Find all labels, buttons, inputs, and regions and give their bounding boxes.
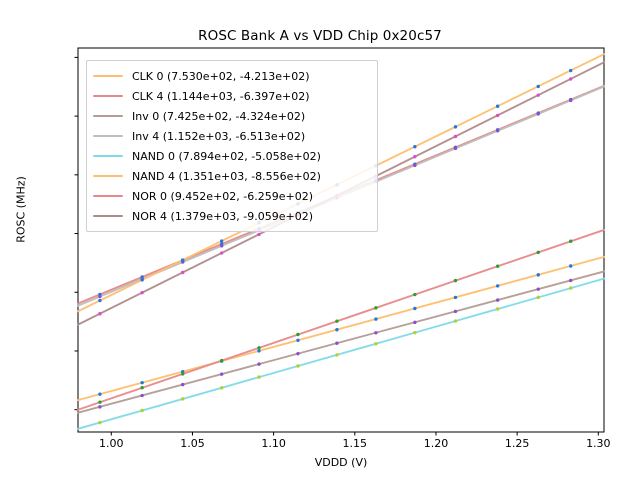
data-point <box>569 264 572 267</box>
data-point <box>181 271 184 274</box>
fit-line <box>78 279 604 429</box>
legend-label: Inv 0 (7.425e+02, -4.324e+02) <box>132 110 305 123</box>
data-point <box>335 319 338 322</box>
data-point <box>98 392 101 395</box>
legend-label: NOR 0 (9.452e+02, -6.259e+02) <box>132 190 313 203</box>
data-point <box>181 383 184 386</box>
legend-item-nor-0[interactable]: NOR 0 (9.452e+02, -6.259e+02) <box>93 186 370 206</box>
data-point <box>98 299 101 302</box>
legend-item-clk-0[interactable]: CLK 0 (7.530e+02, -4.213e+02) <box>93 66 370 86</box>
data-point <box>140 381 143 384</box>
legend-label: CLK 4 (1.144e+03, -6.397e+02) <box>132 90 310 103</box>
fit-line <box>78 230 604 410</box>
legend-item-inv-0[interactable]: Inv 0 (7.425e+02, -4.324e+02) <box>93 106 370 126</box>
data-point <box>98 421 101 424</box>
legend-item-nor-4[interactable]: NOR 4 (1.379e+03, -9.059e+02) <box>93 206 370 226</box>
data-point <box>569 69 572 72</box>
legend-swatch-icon <box>93 135 123 137</box>
data-point <box>374 306 377 309</box>
data-point <box>257 349 260 352</box>
data-point <box>335 328 338 331</box>
data-point <box>454 310 457 313</box>
legend-item-clk-4[interactable]: CLK 4 (1.144e+03, -6.397e+02) <box>93 86 370 106</box>
data-point <box>257 233 260 236</box>
data-point <box>413 331 416 334</box>
data-point <box>98 295 101 298</box>
legend-swatch-icon <box>93 195 123 197</box>
data-point <box>496 307 499 310</box>
data-point <box>220 239 223 242</box>
legend-swatch-icon <box>93 175 123 177</box>
data-point <box>181 372 184 375</box>
data-point <box>537 296 540 299</box>
data-point <box>220 251 223 254</box>
data-point <box>98 400 101 403</box>
data-point <box>454 279 457 282</box>
legend-swatch-icon <box>93 155 123 157</box>
legend-swatch-icon <box>93 115 123 117</box>
chart-figure: ROSC Bank A vs VDD Chip 0x20c57 ROSC (MH… <box>0 0 640 480</box>
data-point <box>537 85 540 88</box>
data-point <box>496 284 499 287</box>
data-point <box>413 293 416 296</box>
data-point <box>454 147 457 150</box>
data-point <box>181 258 184 261</box>
data-point <box>496 129 499 132</box>
data-point <box>374 342 377 345</box>
legend-item-nand-0[interactable]: NAND 0 (7.894e+02, -5.058e+02) <box>93 146 370 166</box>
data-point <box>220 359 223 362</box>
legend-label: Inv 4 (1.152e+03, -6.513e+02) <box>132 130 305 143</box>
data-point <box>374 331 377 334</box>
data-point <box>496 105 499 108</box>
legend-swatch-icon <box>93 95 123 97</box>
data-point <box>257 362 260 365</box>
data-point <box>140 291 143 294</box>
data-point <box>569 240 572 243</box>
data-point <box>98 312 101 315</box>
data-point <box>569 286 572 289</box>
legend-item-nand-4[interactable]: NAND 4 (1.351e+03, -8.556e+02) <box>93 166 370 186</box>
data-point <box>220 244 223 247</box>
legend-item-inv-4[interactable]: Inv 4 (1.152e+03, -6.513e+02) <box>93 126 370 146</box>
data-point <box>454 296 457 299</box>
data-point <box>413 164 416 167</box>
data-point <box>140 386 143 389</box>
data-point <box>569 279 572 282</box>
data-point <box>257 346 260 349</box>
data-point <box>537 93 540 96</box>
data-point <box>220 372 223 375</box>
data-point <box>296 364 299 367</box>
data-point <box>537 273 540 276</box>
data-point <box>257 375 260 378</box>
data-point <box>454 319 457 322</box>
legend-label: CLK 0 (7.530e+02, -4.213e+02) <box>132 70 310 83</box>
data-point <box>181 397 184 400</box>
legend-label: NAND 0 (7.894e+02, -5.058e+02) <box>132 150 321 163</box>
fit-line <box>78 271 604 412</box>
data-point <box>413 307 416 310</box>
legend-label: NAND 4 (1.351e+03, -8.556e+02) <box>132 170 321 183</box>
data-point <box>496 298 499 301</box>
data-point <box>537 251 540 254</box>
data-point <box>569 77 572 80</box>
data-point <box>454 135 457 138</box>
fit-line <box>78 257 604 400</box>
data-point <box>496 265 499 268</box>
data-point <box>335 342 338 345</box>
data-point <box>296 339 299 342</box>
chart-legend[interactable]: CLK 0 (7.530e+02, -4.213e+02)CLK 4 (1.14… <box>86 60 378 232</box>
data-point <box>335 353 338 356</box>
data-point <box>454 125 457 128</box>
data-point <box>537 112 540 115</box>
data-point <box>140 394 143 397</box>
data-point <box>296 333 299 336</box>
data-point <box>140 409 143 412</box>
data-point <box>413 321 416 324</box>
data-point <box>220 386 223 389</box>
legend-label: NOR 4 (1.379e+03, -9.059e+02) <box>132 210 313 223</box>
data-point <box>537 287 540 290</box>
data-point <box>296 352 299 355</box>
data-point <box>98 405 101 408</box>
legend-swatch-icon <box>93 75 123 77</box>
legend-swatch-icon <box>93 215 123 217</box>
data-point <box>413 155 416 158</box>
data-point <box>413 145 416 148</box>
data-point <box>569 99 572 102</box>
data-point <box>140 278 143 281</box>
data-point <box>374 317 377 320</box>
data-point <box>496 114 499 117</box>
